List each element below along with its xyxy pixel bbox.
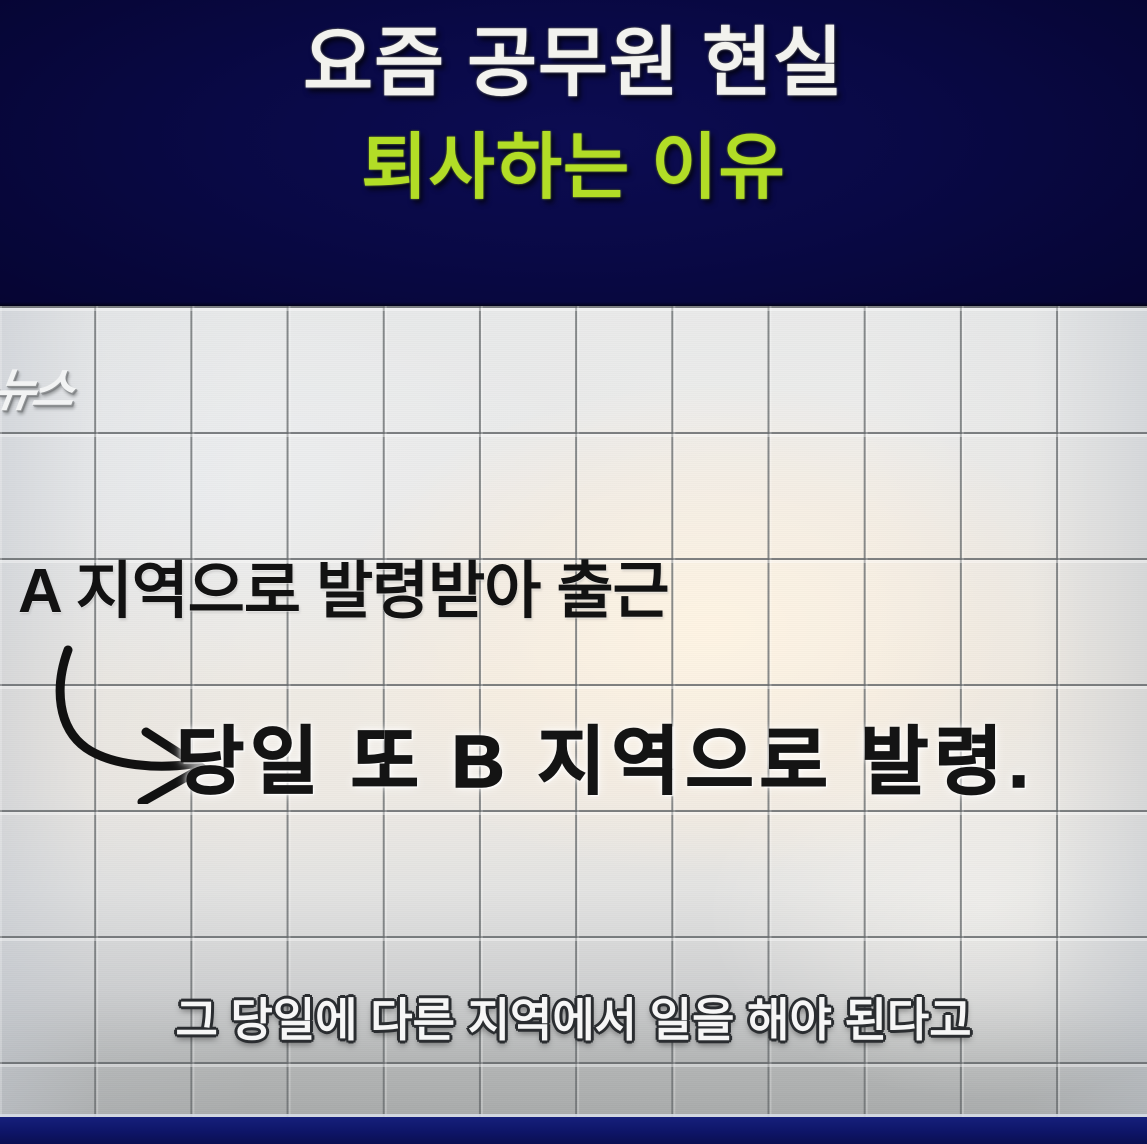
bottom-blue-bar [0,1117,1147,1144]
photo-tile-wall: 스뉴스 A 지역으로 발령받아 출근 당일 또 B 지역으로 발령. 그 당일에… [0,304,1147,1118]
headline-text: A 지역으로 발령받아 출근 [18,540,669,630]
video-frame: 요즘 공무원 현실 퇴사하는 이유 스뉴스 A 지역으로 발령받아 출근 당일 … [0,0,1147,1144]
subtitle-caption: 그 당일에 다른 지역에서 일을 해야 된다고 [0,984,1147,1050]
handwritten-annotation-text: 당일 또 B 지역으로 발령. [176,702,1035,809]
title-primary: 요즘 공무원 현실 [0,26,1147,102]
broadcaster-watermark-logo: 스뉴스 [0,354,76,420]
title-secondary: 퇴사하는 이유 [0,132,1147,204]
title-banner: 요즘 공무원 현실 퇴사하는 이유 [0,0,1147,306]
